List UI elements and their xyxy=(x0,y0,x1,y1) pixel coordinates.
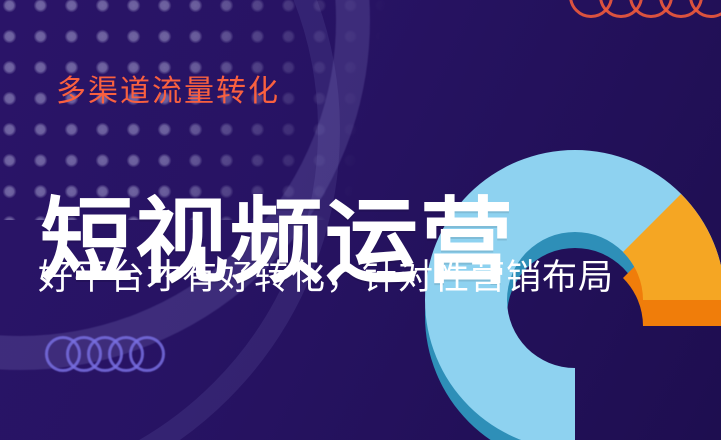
sweeping-arc-band-icon xyxy=(0,0,370,370)
orange-ring-icon xyxy=(659,0,703,18)
orange-ring-icon xyxy=(629,0,673,18)
orange-ring-icon xyxy=(569,0,613,18)
purple-ring-icon xyxy=(108,336,144,372)
banner-kicker: 多渠道流量转化 xyxy=(56,66,280,110)
dot-grid-pattern-icon xyxy=(0,0,394,220)
purple-ring-icon xyxy=(66,336,102,372)
donut-orange-top xyxy=(623,194,721,300)
purple-ring-icon xyxy=(129,336,165,372)
promo-banner: 多渠道流量转化 短视频运营 好平台才有好转化，针对性营销布局 xyxy=(0,0,721,440)
orange-ring-icon xyxy=(689,0,721,18)
purple-ring-cluster-icon xyxy=(45,336,185,376)
donut-orange-side xyxy=(623,220,721,326)
banner-tagline: 好平台才有好转化，针对性营销布局 xyxy=(38,259,614,298)
purple-ring-icon xyxy=(45,336,81,372)
orange-ring-cluster-icon xyxy=(569,0,721,34)
purple-ring-icon xyxy=(87,336,123,372)
orange-ring-icon xyxy=(599,0,643,18)
